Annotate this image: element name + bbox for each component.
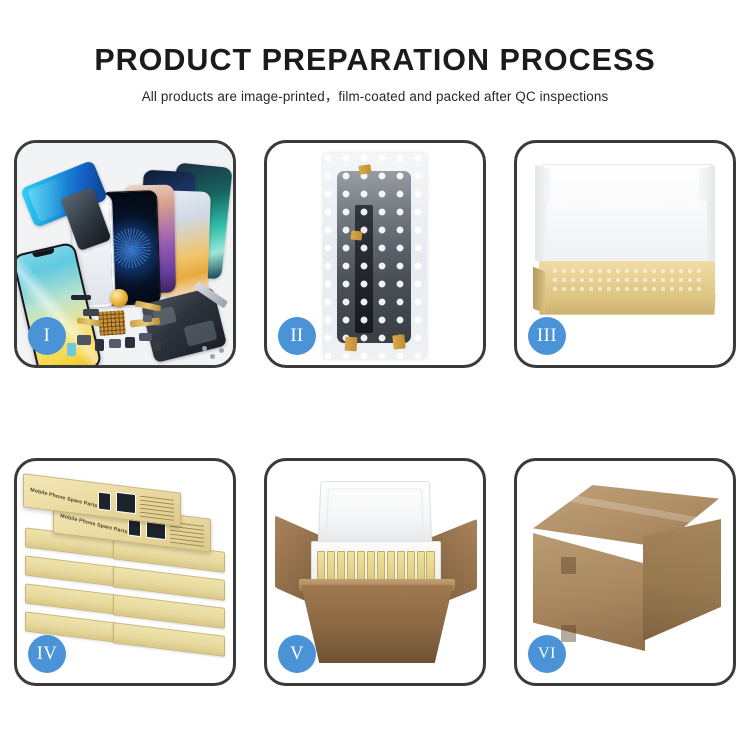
stacked-box <box>25 555 117 586</box>
process-step-panel-6: VI <box>514 458 736 686</box>
spare-part-icon <box>77 335 91 345</box>
spare-part-icon <box>139 333 152 341</box>
step-badge-5: V <box>278 635 316 673</box>
spare-part-icon <box>67 343 76 356</box>
page-title: PRODUCT PREPARATION PROCESS <box>0 44 750 76</box>
process-step-panel-1: I <box>14 140 236 368</box>
foam-liner-icon <box>547 201 707 265</box>
step-badge-3: III <box>528 317 566 355</box>
product-preparation-process-page: PRODUCT PREPARATION PROCESS All products… <box>0 0 750 750</box>
header: PRODUCT PREPARATION PROCESS All products… <box>0 0 750 105</box>
bubble-wrap-bag-icon <box>323 153 427 359</box>
box-window-icon <box>116 492 136 514</box>
screw-icon <box>202 346 207 351</box>
process-step-panel-4: Mobile Phone Spare Parts Mobile Phone Sp… <box>14 458 236 686</box>
spare-part-icon <box>83 309 99 316</box>
tape-icon <box>351 230 363 240</box>
spare-part-icon <box>153 341 161 350</box>
process-step-panel-2: II <box>264 140 486 368</box>
carton-tab-icon <box>561 557 576 574</box>
stacked-box <box>25 583 117 614</box>
tape-icon <box>358 164 371 175</box>
process-step-panel-3: III <box>514 140 736 368</box>
tape-icon <box>392 334 405 349</box>
bubble-wrapped-goods-icon <box>551 267 703 295</box>
tape-icon <box>345 337 358 352</box>
process-step-grid: I II <box>14 140 736 692</box>
carton-left-face-icon <box>533 533 645 651</box>
camera-module-icon <box>110 289 128 307</box>
carton-body-icon <box>301 585 453 663</box>
kraft-tray-front-icon <box>538 293 715 315</box>
step-badge-2: II <box>278 317 316 355</box>
spare-part-icon <box>95 339 104 351</box>
step-badge-1: I <box>28 317 66 355</box>
box-window-icon <box>98 492 111 512</box>
spare-part-icon <box>143 315 152 322</box>
box-spec-lines-icon <box>140 495 174 521</box>
spare-part-icon <box>109 339 121 348</box>
page-subtitle: All products are image-printed，film-coat… <box>0 85 750 105</box>
box-label-text: Mobile Phone Spare Parts <box>30 487 98 509</box>
process-step-panel-5: V <box>264 458 486 686</box>
kraft-tray-side-icon <box>533 267 545 314</box>
stacked-box <box>113 622 225 657</box>
carton-right-face-icon <box>643 519 721 641</box>
ic-chip-icon <box>98 310 126 336</box>
bubble-texture-icon <box>323 153 427 359</box>
foam-lid-icon <box>318 481 433 546</box>
spare-part-icon <box>71 295 91 300</box>
screw-icon <box>210 354 215 359</box>
step-badge-4: IV <box>28 635 66 673</box>
step-badge-6: VI <box>528 635 566 673</box>
carton-tab-icon <box>561 625 576 642</box>
screw-icon <box>219 348 224 353</box>
spare-part-icon <box>125 337 135 348</box>
